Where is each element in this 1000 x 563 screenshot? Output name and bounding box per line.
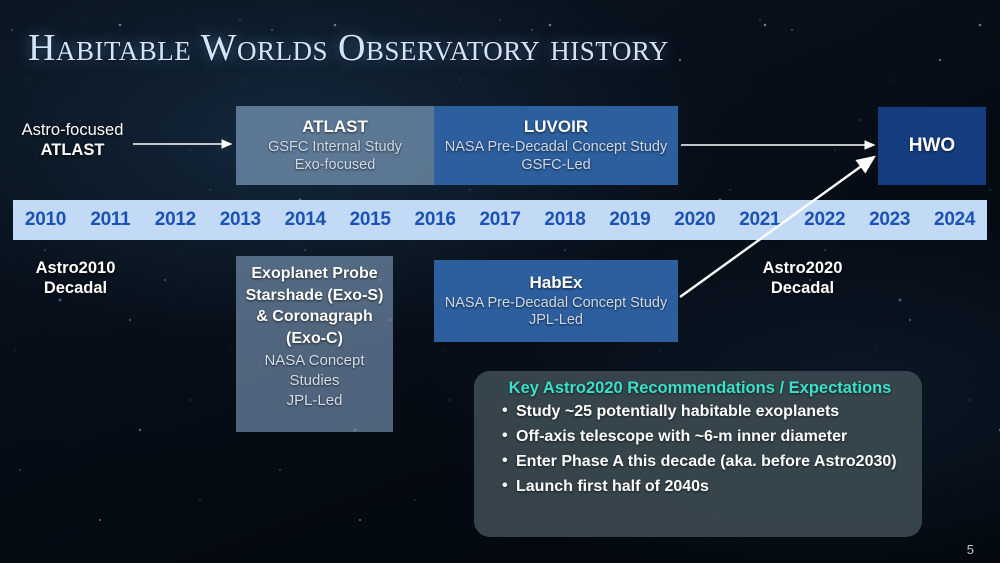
label-line-2: ATLAST [10, 140, 135, 160]
box-hwo[interactable]: HWO [878, 107, 986, 185]
timeline-year: 2019 [597, 209, 662, 231]
label-line-1: Astro2010 [8, 258, 143, 278]
box-habex[interactable]: HabEx NASA Pre-Decadal Concept Study JPL… [434, 260, 678, 342]
key-recommendations-panel: Key Astro2020 Recommendations / Expectat… [474, 371, 922, 537]
recommendation-text: Enter Phase A this decade (aka. before A… [516, 453, 897, 471]
box-exo-title-line4: (Exo-C) [286, 329, 343, 349]
page-title: Habitable Worlds Observatory history [28, 26, 669, 70]
box-atlast-sub2: Exo-focused [295, 157, 376, 174]
box-exo-sub2: Studies [289, 372, 339, 390]
timeline-year: 2011 [78, 209, 143, 231]
box-exo-sub3: JPL-Led [287, 392, 343, 410]
label-line-2: Decadal [8, 278, 143, 298]
slide-canvas: Habitable Worlds Observatory history Ast… [0, 0, 1000, 563]
label-line-1: Astro2020 [735, 258, 870, 278]
timeline-year: 2014 [273, 209, 338, 231]
bullet-icon: • [502, 403, 516, 420]
page-number: 5 [967, 542, 974, 557]
box-exo-title-line1: Exoplanet Probe [251, 264, 377, 284]
box-atlast-title: ATLAST [302, 117, 368, 137]
box-exo-title-line2: Starshade (Exo-S) [246, 286, 384, 306]
recommendation-item: • Enter Phase A this decade (aka. before… [502, 453, 908, 471]
label-astro2020-decadal: Astro2020 Decadal [735, 258, 870, 298]
timeline-year: 2021 [727, 209, 792, 231]
timeline-bar: 2010 2011 2012 2013 2014 2015 2016 2017 … [13, 200, 987, 240]
timeline-year: 2016 [403, 209, 468, 231]
label-astro-focused-atlast: Astro-focused ATLAST [10, 120, 135, 160]
timeline-year: 2023 [857, 209, 922, 231]
bullet-icon: • [502, 453, 516, 470]
box-habex-sub2: JPL-Led [529, 312, 583, 329]
label-line-1: Astro-focused [10, 120, 135, 140]
box-exoplanet-probe[interactable]: Exoplanet Probe Starshade (Exo-S) & Coro… [236, 256, 393, 432]
timeline-year: 2010 [13, 209, 78, 231]
box-exo-sub1: NASA Concept [264, 352, 364, 370]
bullet-icon: • [502, 478, 516, 495]
box-exo-title-line3: & Coronagraph [256, 307, 372, 327]
box-atlast-sub1: GSFC Internal Study [268, 139, 402, 156]
timeline-year: 2022 [792, 209, 857, 231]
box-luvoir-sub1: NASA Pre-Decadal Concept Study [445, 139, 667, 156]
bullet-icon: • [502, 428, 516, 445]
recommendation-text: Study ~25 potentially habitable exoplane… [516, 403, 839, 421]
timeline-year: 2017 [468, 209, 533, 231]
timeline-year: 2015 [338, 209, 403, 231]
box-atlast[interactable]: ATLAST GSFC Internal Study Exo-focused [236, 106, 434, 185]
label-astro2010-decadal: Astro2010 Decadal [8, 258, 143, 298]
timeline-year: 2013 [208, 209, 273, 231]
recommendation-text: Launch first half of 2040s [516, 478, 709, 496]
timeline-year: 2012 [143, 209, 208, 231]
timeline-year: 2020 [662, 209, 727, 231]
label-line-2: Decadal [735, 278, 870, 298]
recommendation-item: • Launch first half of 2040s [502, 478, 908, 496]
box-luvoir-title: LUVOIR [524, 117, 588, 137]
recommendation-item: • Off-axis telescope with ~6-m inner dia… [502, 428, 908, 446]
box-habex-title: HabEx [530, 273, 583, 293]
timeline-year: 2024 [922, 209, 987, 231]
recommendations-heading: Key Astro2020 Recommendations / Expectat… [492, 379, 908, 398]
box-luvoir-sub2: GSFC-Led [521, 157, 590, 174]
box-habex-sub1: NASA Pre-Decadal Concept Study [445, 295, 667, 312]
recommendation-item: • Study ~25 potentially habitable exopla… [502, 403, 908, 421]
recommendation-text: Off-axis telescope with ~6-m inner diame… [516, 428, 847, 446]
timeline-year: 2018 [533, 209, 598, 231]
box-luvoir[interactable]: LUVOIR NASA Pre-Decadal Concept Study GS… [434, 106, 678, 185]
box-hwo-title: HWO [909, 135, 955, 157]
